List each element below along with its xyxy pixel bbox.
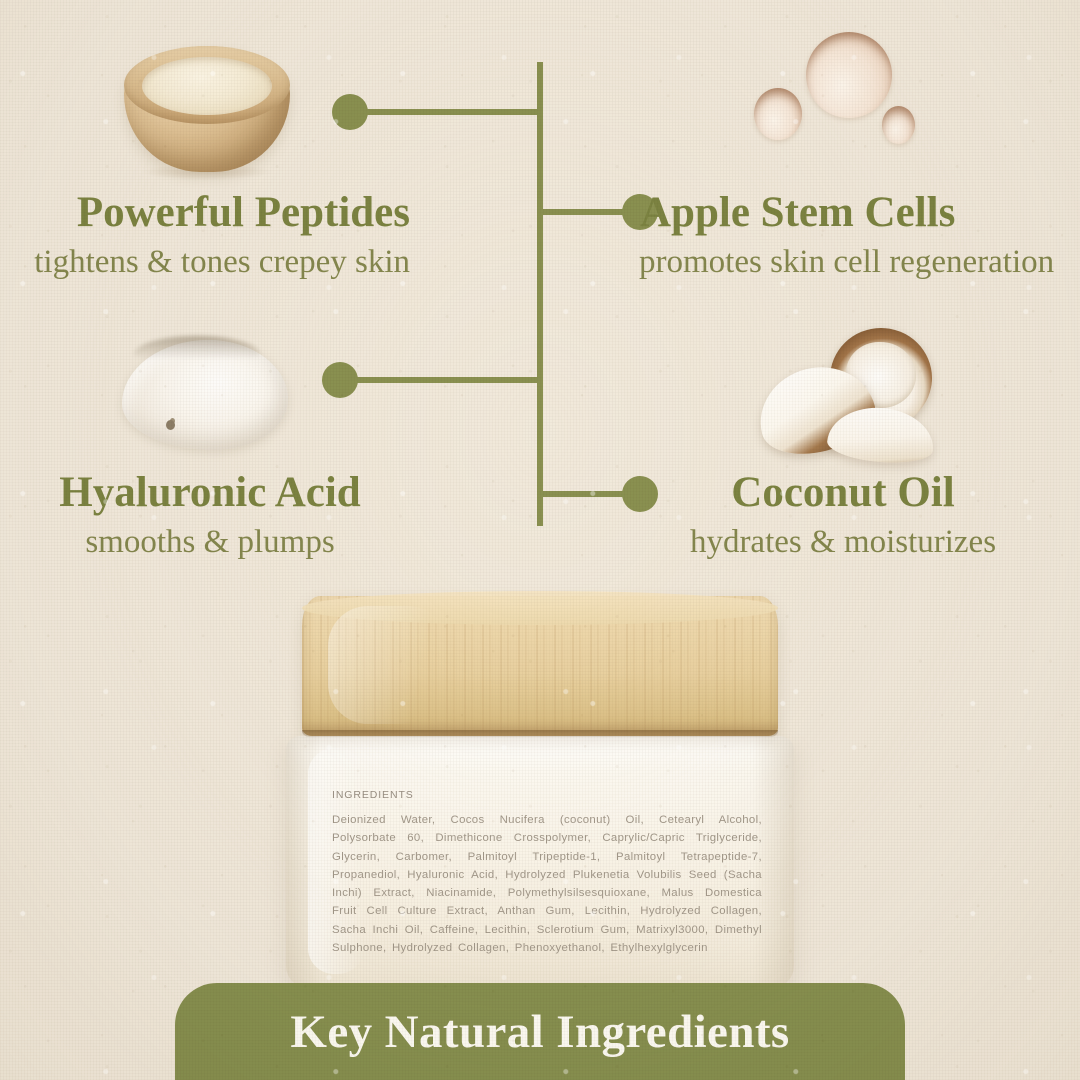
droplet-large (806, 32, 892, 118)
jar-lid-seam (302, 730, 778, 737)
connector-branch-hyaluronic-acid (340, 377, 540, 383)
feature-apple-stem-cells: Apple Stem Cells promotes skin cell rege… (640, 190, 1080, 280)
feature-title: Coconut Oil (648, 470, 1038, 515)
coconut-halves-image (752, 326, 938, 470)
infographic-canvas: Powerful Peptides tightens & tones crepe… (0, 0, 1080, 1080)
bowl-cream-contents (142, 57, 272, 115)
ingredients-heading: INGREDIENTS (332, 789, 762, 801)
oil-droplets-image (748, 28, 934, 168)
connector-dot-hyaluronic-acid (322, 362, 358, 398)
banner-title: Key Natural Ingredients (290, 1005, 789, 1059)
gel-blob-shadow (134, 336, 260, 362)
feature-subtitle: tightens & tones crepey skin (0, 244, 410, 280)
feature-subtitle: smooths & plumps (0, 524, 420, 560)
wooden-bowl-of-cream-image (118, 38, 296, 178)
connector-branch-powerful-peptides (350, 109, 540, 115)
feature-coconut-oil: Coconut Oil hydrates & moisturizes (648, 470, 1038, 560)
feature-subtitle: hydrates & moisturizes (648, 524, 1038, 560)
connector-dot-powerful-peptides (332, 94, 368, 130)
ingredients-text: Deionized Water, Cocos Nucifera (coconut… (332, 811, 762, 957)
droplet-small (882, 106, 915, 144)
feature-title: Powerful Peptides (0, 190, 410, 235)
jar-lid-top-surface (302, 591, 778, 625)
droplet-medium (754, 88, 802, 140)
gel-blob-speck (166, 420, 175, 430)
feature-title: Apple Stem Cells (640, 190, 1080, 235)
feature-title: Hyaluronic Acid (0, 470, 420, 515)
gel-blob-image (118, 334, 298, 458)
feature-powerful-peptides: Powerful Peptides tightens & tones crepe… (0, 190, 410, 280)
feature-subtitle: promotes skin cell regeneration (639, 244, 1080, 280)
key-natural-ingredients-banner: Key Natural Ingredients (175, 983, 905, 1080)
connector-spine-vertical (537, 62, 543, 526)
feature-hyaluronic-acid: Hyaluronic Acid smooths & plumps (0, 470, 420, 560)
ingredients-label: INGREDIENTS Deionized Water, Cocos Nucif… (332, 789, 762, 957)
